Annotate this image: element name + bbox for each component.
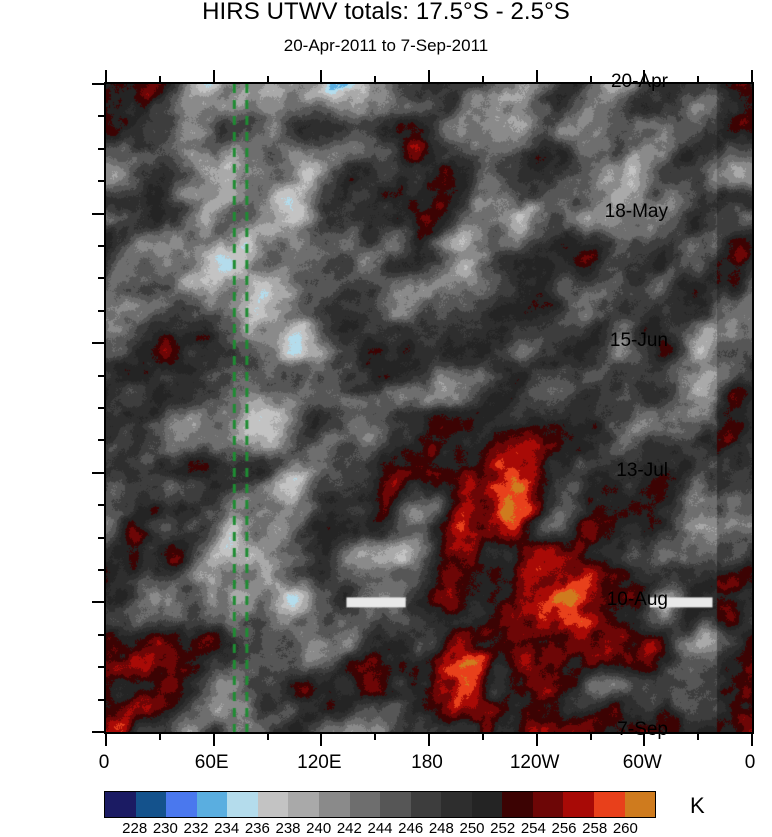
x-axis-minor-tick <box>590 76 592 84</box>
x-axis-major-tick <box>320 70 322 84</box>
colorbar-swatch <box>227 792 258 817</box>
x-axis-tick-label: 120E <box>297 752 341 774</box>
x-axis-major-tick <box>751 70 753 84</box>
colorbar-swatch <box>288 792 319 817</box>
x-axis-tick-label: 120W <box>510 752 560 774</box>
colorbar-swatch <box>258 792 289 817</box>
y-axis-tick-label: 10-Aug <box>607 589 668 611</box>
colorbar-swatch <box>105 792 136 817</box>
y-axis-minor-tick <box>98 634 106 636</box>
colorbar-swatch <box>563 792 594 817</box>
y-axis-tick-label: 20-Apr <box>611 71 668 93</box>
x-axis-tick-label: 0 <box>745 752 756 774</box>
y-axis-major-tick <box>92 342 106 344</box>
colorbar-swatch <box>136 792 167 817</box>
y-axis-minor-tick <box>98 439 106 441</box>
colorbar-unit-label: K <box>690 793 705 819</box>
colorbar-tick-label: 242 <box>337 820 362 837</box>
colorbar-tick-label: 248 <box>429 820 454 837</box>
colorbar-swatch <box>319 792 350 817</box>
x-axis-minor-tick <box>374 76 376 84</box>
hovmoller-field-canvas <box>106 84 752 732</box>
x-axis-minor-tick <box>697 732 699 740</box>
colorbar-tick-label: 254 <box>521 820 546 837</box>
colorbar-swatch <box>441 792 472 817</box>
chart-title: HIRS UTWV totals: 17.5°S - 2.5°S <box>0 0 772 26</box>
x-axis-major-tick <box>536 732 538 746</box>
colorbar-tick-label: 234 <box>214 820 239 837</box>
colorbar: 2282302322342362382402422442462482502522… <box>104 791 656 818</box>
y-axis-minor-tick <box>98 537 106 539</box>
colorbar-tick-label: 260 <box>613 820 638 837</box>
x-axis-tick-label: 60E <box>195 752 229 774</box>
x-axis-major-tick <box>105 732 107 746</box>
chart-subtitle: 20-Apr-2011 to 7-Sep-2011 <box>0 36 772 56</box>
x-axis-tick-label: 180 <box>411 752 443 774</box>
x-axis-minor-tick <box>159 76 161 84</box>
y-axis-minor-tick <box>98 277 106 279</box>
colorbar-tick-label: 238 <box>275 820 300 837</box>
colorbar-tick-label: 232 <box>183 820 208 837</box>
colorbar-swatch <box>166 792 197 817</box>
y-axis-major-tick <box>92 731 106 733</box>
x-axis-minor-tick <box>159 732 161 740</box>
x-axis-minor-tick <box>697 76 699 84</box>
colorbar-swatches <box>104 791 656 818</box>
colorbar-tick-label: 252 <box>490 820 515 837</box>
colorbar-swatch <box>197 792 228 817</box>
x-axis-minor-tick <box>374 732 376 740</box>
x-axis-major-tick <box>105 70 107 84</box>
colorbar-swatch <box>472 792 503 817</box>
y-axis-tick-label: 7-Sep <box>617 719 668 741</box>
x-axis-minor-tick <box>267 76 269 84</box>
x-axis-major-tick <box>751 732 753 746</box>
y-axis-tick-label: 13-Jul <box>616 460 668 482</box>
y-axis-major-tick <box>92 601 106 603</box>
colorbar-swatch <box>533 792 564 817</box>
colorbar-swatch <box>594 792 625 817</box>
y-axis-minor-tick <box>98 569 106 571</box>
y-axis-minor-tick <box>98 407 106 409</box>
colorbar-tick-label: 256 <box>551 820 576 837</box>
y-axis-tick-label: 18-May <box>605 201 668 223</box>
y-axis-minor-tick <box>98 115 106 117</box>
y-axis-minor-tick <box>98 375 106 377</box>
x-axis-major-tick <box>213 732 215 746</box>
y-axis-minor-tick <box>98 245 106 247</box>
x-axis-minor-tick <box>267 732 269 740</box>
colorbar-tick-label: 250 <box>459 820 484 837</box>
colorbar-swatch <box>625 792 656 817</box>
x-axis-major-tick <box>320 732 322 746</box>
x-axis-minor-tick <box>590 732 592 740</box>
x-axis-major-tick <box>428 732 430 746</box>
x-axis-tick-label: 0 <box>99 752 110 774</box>
colorbar-tick-label: 240 <box>306 820 331 837</box>
colorbar-swatch <box>350 792 381 817</box>
x-axis-minor-tick <box>482 732 484 740</box>
colorbar-tick-label: 244 <box>367 820 392 837</box>
colorbar-tick-label: 236 <box>245 820 270 837</box>
y-axis-minor-tick <box>98 699 106 701</box>
hovmoller-plot-area <box>104 82 754 734</box>
x-axis-major-tick <box>213 70 215 84</box>
colorbar-tick-label: 228 <box>122 820 147 837</box>
x-axis-tick-label: 60W <box>623 752 662 774</box>
y-axis-minor-tick <box>98 310 106 312</box>
colorbar-swatch <box>502 792 533 817</box>
y-axis-minor-tick <box>98 504 106 506</box>
y-axis-minor-tick <box>98 666 106 668</box>
x-axis-major-tick <box>536 70 538 84</box>
x-axis-major-tick <box>428 70 430 84</box>
colorbar-swatch <box>411 792 442 817</box>
colorbar-swatch <box>380 792 411 817</box>
colorbar-tick-label: 258 <box>582 820 607 837</box>
colorbar-tick-label: 246 <box>398 820 423 837</box>
y-axis-tick-label: 15-Jun <box>610 330 668 352</box>
colorbar-tick-label: 230 <box>153 820 178 837</box>
y-axis-minor-tick <box>98 180 106 182</box>
y-axis-major-tick <box>92 472 106 474</box>
y-axis-major-tick <box>92 213 106 215</box>
y-axis-minor-tick <box>98 148 106 150</box>
y-axis-major-tick <box>92 83 106 85</box>
x-axis-minor-tick <box>482 76 484 84</box>
